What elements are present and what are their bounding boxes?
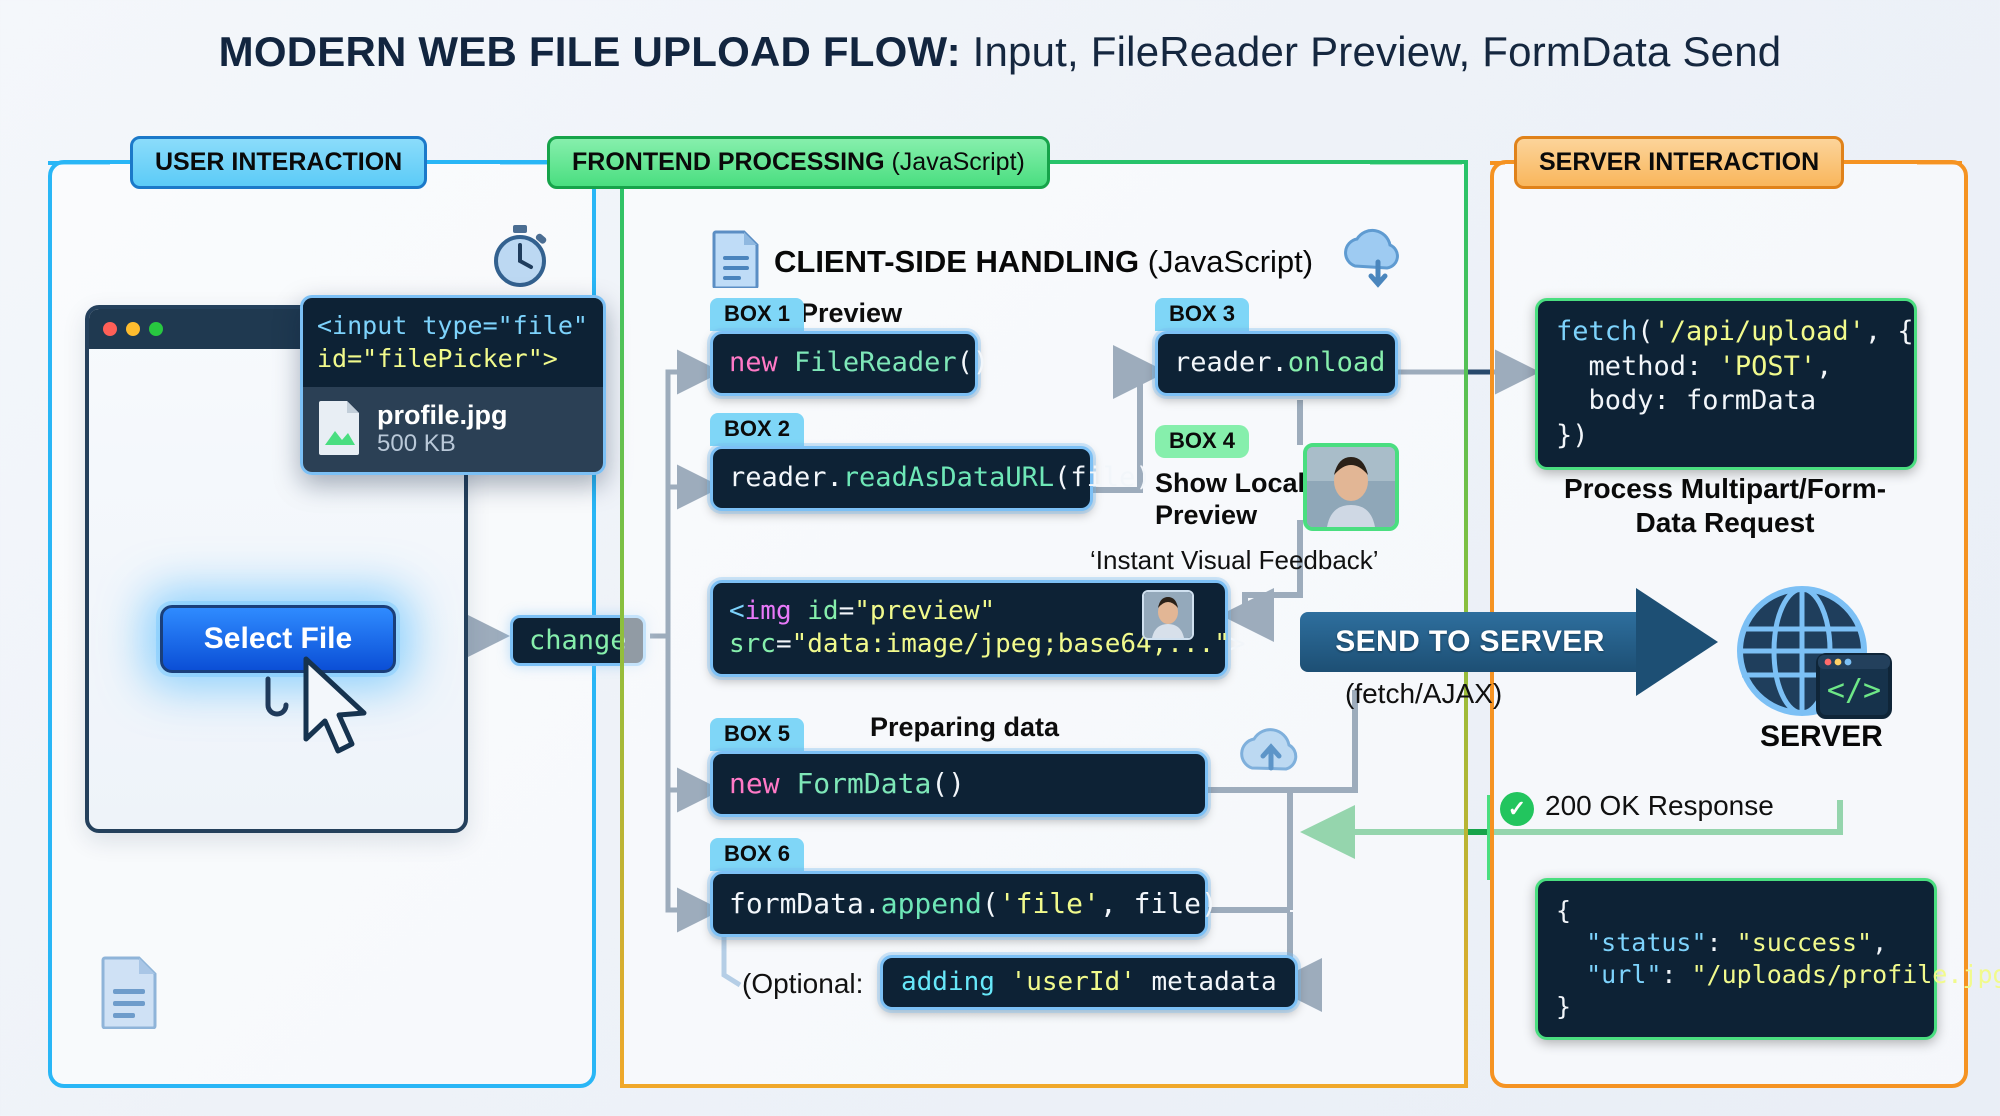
client-side-handling-title: CLIENT-SIDE HANDLING (774, 244, 1139, 279)
window-maximize-dot (149, 322, 163, 336)
cloud-download-icon (1335, 228, 1407, 295)
process-request-caption: Process Multipart/Form- Data Request (1540, 472, 1910, 539)
ok-response-label: 200 OK Response (1545, 790, 1774, 822)
file-name: profile.jpg (377, 401, 508, 429)
input-code-line2: id="filePicker"> (317, 344, 558, 373)
cursor-icon (300, 655, 380, 765)
box-2-badge: BOX 2 (710, 413, 804, 446)
stopwatch-icon (490, 225, 550, 294)
input-code-snippet: <input type="file" id="filePicker"> (303, 298, 603, 387)
send-arrow-head (1636, 588, 1718, 696)
page-title-rest: Input, FileReader Preview, FormData Send (961, 28, 1782, 75)
box-3-code: reader.onload (1155, 331, 1398, 396)
box-6-badge: BOX 6 (710, 838, 804, 871)
box-4-badge: BOX 4 (1155, 425, 1249, 458)
box-4-label: Show LocalPreview (1155, 468, 1305, 532)
file-size: 500 KB (377, 430, 508, 458)
window-minimize-dot (126, 322, 140, 336)
panel-frontend-tab-main: FRONTEND PROCESSING (572, 148, 885, 176)
panel-frontend-tab: FRONTEND PROCESSING (JavaScript) (547, 136, 1050, 189)
optional-label: (Optional: (742, 968, 863, 1000)
panel-server-tab: SERVER INTERACTION (1514, 136, 1844, 189)
document-icon (100, 955, 160, 1034)
check-circle-icon: ✓ (1500, 792, 1534, 826)
client-side-handling-header: CLIENT-SIDE HANDLING (JavaScript) (712, 228, 1407, 295)
box-1-badge: BOX 1 (710, 298, 804, 331)
page-title: MODERN WEB FILE UPLOAD FLOW: Input, File… (0, 28, 2000, 76)
page-title-strong: MODERN WEB FILE UPLOAD FLOW: (219, 28, 961, 75)
code-window-icon: </> (1818, 655, 1890, 717)
inline-preview-thumbnail (1142, 590, 1194, 640)
box-1-code: new FileReader() (710, 331, 978, 396)
input-code-line1: <input type="file" (317, 311, 588, 340)
process-line1: Process Multipart/Form- (1564, 473, 1886, 504)
preparing-data-caption: Preparing data (870, 712, 1059, 743)
response-json-block: { "status": "success", "url": "/uploads/… (1535, 878, 1937, 1040)
panel-frontend-tab-sub: (JavaScript) (885, 148, 1025, 176)
file-input-card: <input type="file" id="filePicker"> prof… (300, 295, 606, 475)
send-to-server-banner: SEND TO SERVER (1300, 612, 1640, 672)
send-to-server-subtitle: (fetch/AJAX) (1345, 678, 1502, 710)
selected-file-row: profile.jpg 500 KB (303, 387, 603, 472)
metadata-code-chip: adding 'userId' metadata (880, 955, 1298, 1010)
globe-icon: </> (1730, 585, 1895, 730)
fetch-code-block: fetch('/api/upload', { method: 'POST', b… (1535, 298, 1917, 470)
box-2-code: reader.readAsDataURL(file) (710, 446, 1093, 511)
show-local-line1: Show Local (1155, 468, 1305, 498)
document-icon (712, 230, 760, 293)
box-3-badge: BOX 3 (1155, 298, 1249, 331)
cloud-upload-icon (1230, 722, 1312, 789)
client-side-handling-sub: (JavaScript) (1139, 244, 1313, 279)
instant-feedback-note: ‘Instant Visual Feedback’ (1090, 545, 1379, 576)
box-6-code: formData.append('file', file) (710, 871, 1208, 937)
local-preview-thumbnail (1303, 443, 1399, 531)
diagram-canvas: MODERN WEB FILE UPLOAD FLOW: Input, File… (0, 0, 2000, 1116)
show-local-line2: Preview (1155, 500, 1257, 530)
panel-user-tab: USER INTERACTION (130, 136, 427, 189)
preview-caption: Preview (800, 298, 902, 329)
box-5-code: new FormData() (710, 751, 1208, 817)
server-label: SERVER (1760, 720, 1883, 754)
process-line2: Data Request (1636, 507, 1815, 538)
window-close-dot (103, 322, 117, 336)
box-5-badge: BOX 5 (710, 718, 804, 751)
svg-text:</>: </> (1827, 673, 1881, 708)
image-file-icon (317, 399, 363, 460)
click-gesture-icon (258, 675, 298, 730)
